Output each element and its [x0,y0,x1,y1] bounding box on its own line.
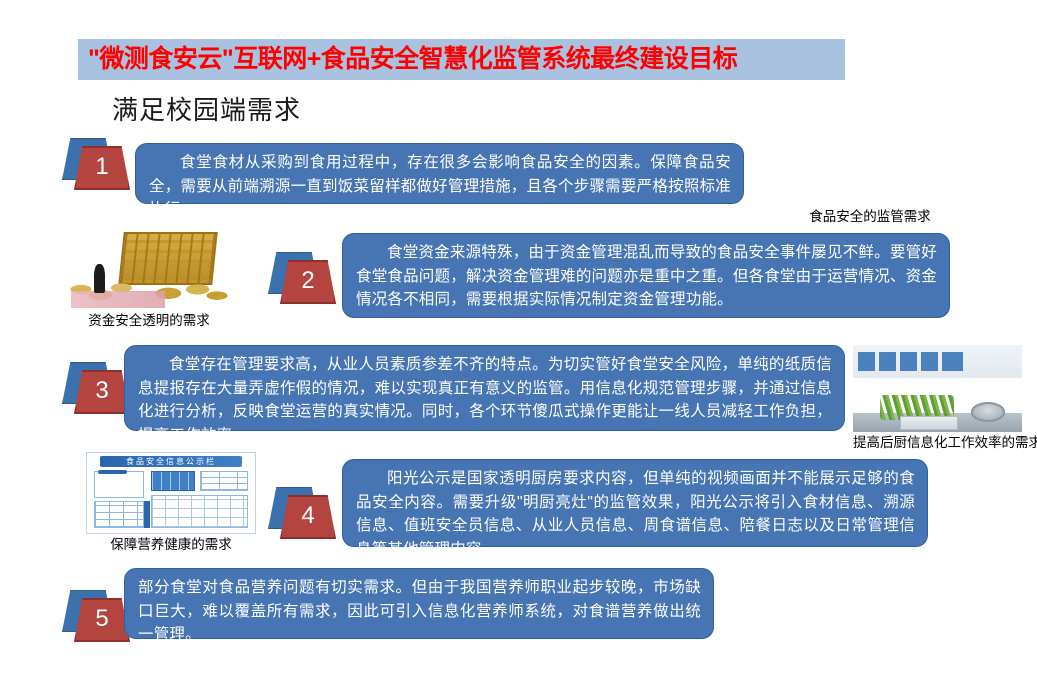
banknote-icon [71,291,165,308]
figurine-icon [94,264,105,293]
figure-caption-2: 资金安全透明的需求 [68,313,230,329]
vegetable-basket-photo [776,113,964,206]
title-band: "微测食安云"互联网+食品安全智慧化监管系统最终建设目标 [78,39,845,80]
content-box-1: 食堂食材从采购到食用过程中，存在很多会影响食品安全的因素。保障食品安全，需要从前… [135,143,744,204]
info-board-panel-a [94,471,144,498]
content-box-4-text: 阳光公示是国家透明厨房要求内容，但单纯的视频画面并不能展示足够的食品安全内容。需… [356,467,915,561]
step-badge-1: 1 [62,138,138,190]
info-board-grid [151,495,248,529]
content-box-3: 食堂存在管理要求高，从业人员素质参差不齐的特点。为切实管好食堂安全风险，单纯的纸… [124,345,845,431]
figure-caption-4: 保障营养健康的需求 [86,537,256,553]
food-tray-icon [900,416,957,430]
content-box-5: 部分食堂对食品营养问题有切实需求。但由于我国营养师职业起步较晚，市场缺口巨大，难… [124,568,714,639]
badge-front-trapezoid-icon: 1 [74,146,130,190]
badge-number-5: 5 [95,607,108,633]
info-board-photo: 食品安全信息公示栏 [86,452,256,534]
content-box-2-text: 食堂资金来源特殊，由于资金管理混乱而导致的食品安全事件屡见不鲜。要管好食堂食品问… [356,241,937,312]
content-box-3-text: 食堂存在管理要求高，从业人员素质参差不齐的特点。为切实管好食堂安全风险，单纯的纸… [138,353,832,447]
info-board-heading: 食品安全信息公示栏 [100,456,241,467]
info-board-panel-c [151,471,195,492]
figure-caption-3: 提高后厨信息化工作效率的需求 [853,435,1022,451]
content-box-5-text: 部分食堂对食品营养问题有切实需求。但由于我国营养师职业起步较晚，市场缺口巨大，难… [138,576,701,647]
content-box-4: 阳光公示是国家透明厨房要求内容，但单纯的视频画面并不能展示足够的食品安全内容。需… [342,459,928,547]
badge-number-3: 3 [95,379,108,405]
content-box-1-text: 食堂食材从采购到食用过程中，存在很多会影响食品安全的因素。保障食品安全，需要从前… [149,151,731,222]
figure-info-board: 食品安全信息公示栏 保障营养健康的需求 [86,452,256,553]
slide-canvas: "微测食安云"互联网+食品安全智慧化监管系统最终建设目标 满足校园端需求 1 食… [0,0,1037,677]
abacus-coins-photo [68,225,230,310]
page-title: "微测食安云"互联网+食品安全智慧化监管系统最终建设目标 [88,47,737,72]
badge-number-4: 4 [301,504,314,530]
badge-front-trapezoid-icon: 4 [280,495,336,539]
info-board-panel-d [200,471,249,492]
badge-front-trapezoid-icon: 2 [280,260,336,304]
figure-kitchen-staff: 提高后厨信息化工作效率的需求 [853,345,1022,451]
badge-front-trapezoid-icon: 5 [74,598,130,642]
badge-front-trapezoid-icon: 3 [74,370,130,414]
figure-caption-1: 食品安全的监管需求 [776,209,964,225]
figure-abacus-coins: 资金安全透明的需求 [68,225,230,329]
badge-number-2: 2 [301,269,314,295]
step-badge-2: 2 [268,252,344,304]
cooking-pot-icon [971,402,1005,421]
info-board-side-strip [144,501,150,528]
info-board-panel-b [94,501,144,528]
badge-number-1: 1 [95,155,108,181]
step-badge-4: 4 [268,487,344,539]
figure-vegetable-basket: 食品安全的监管需求 [776,113,964,225]
section-subtitle: 满足校园端需求 [112,95,301,126]
kitchen-staff-photo [853,345,1022,432]
content-box-2: 食堂资金来源特殊，由于资金管理混乱而导致的食品安全事件屡见不鲜。要管好食堂食品问… [342,233,950,318]
